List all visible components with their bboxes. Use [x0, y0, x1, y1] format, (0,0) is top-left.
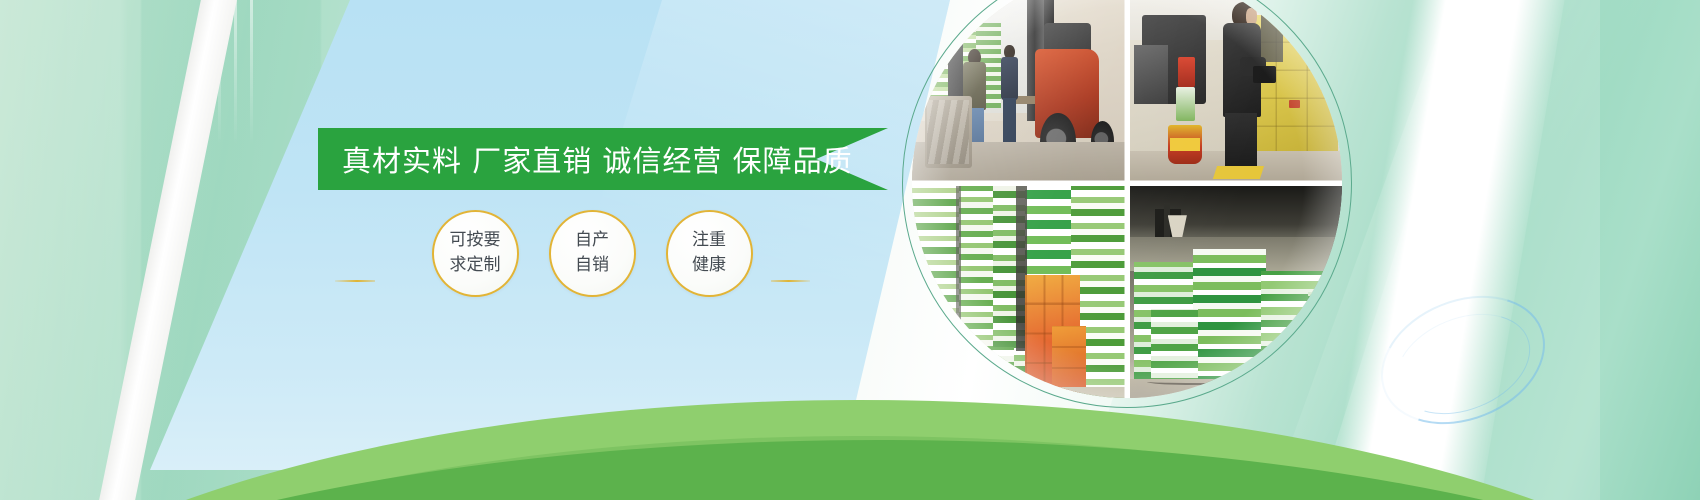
photo-worker-beside-yellow-cartons	[1130, 0, 1343, 181]
feature-badge-custom[interactable]: 可按要 求定制	[432, 210, 519, 297]
collage-horizontal-seam	[912, 181, 1342, 186]
photo-collage	[912, 0, 1342, 398]
collage-vertical-seam	[1125, 0, 1130, 398]
feature-badge-custom-line2: 求定制	[450, 253, 501, 278]
photo-warehouse-stacked-pallets	[1130, 186, 1343, 399]
gold-rule-left	[335, 280, 375, 282]
promo-banner: 真材实料 厂家直销 诚信经营 保障品质 可按要 求定制 自产 自销 注重 健康	[0, 0, 1700, 500]
gold-rule-right	[771, 280, 811, 282]
feature-circles: 可按要 求定制 自产 自销 注重 健康	[432, 210, 753, 297]
feature-badge-self-produced-line2: 自销	[575, 253, 609, 278]
feature-badge-health-line1: 注重	[692, 228, 726, 253]
photo-warehouse-green-and-orange-cartons	[912, 186, 1125, 399]
feature-badge-self-produced[interactable]: 自产 自销	[549, 210, 636, 297]
feature-badge-health-line2: 健康	[692, 253, 726, 278]
feature-badge-custom-line1: 可按要	[450, 228, 501, 253]
feature-badge-row: 可按要 求定制 自产 自销 注重 健康	[335, 208, 810, 298]
feature-badge-self-produced-line1: 自产	[575, 228, 609, 253]
feature-badge-health[interactable]: 注重 健康	[666, 210, 753, 297]
slogan-text: 真材实料 厂家直销 诚信经营 保障品质	[318, 128, 888, 190]
photo-forklift-loading-truck	[912, 0, 1125, 181]
